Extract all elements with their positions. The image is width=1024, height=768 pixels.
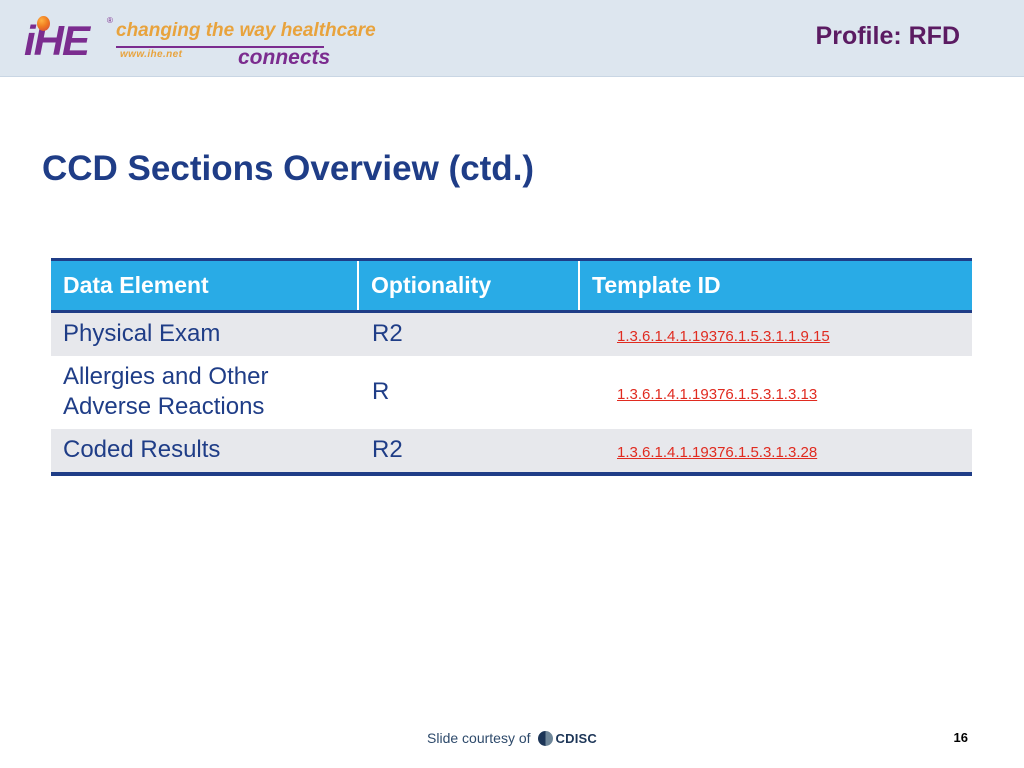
cell-data-element: Coded Results	[51, 429, 358, 474]
ccd-sections-table: Data Element Optionality Template ID Phy…	[51, 258, 972, 476]
credit-row: Slide courtesy of CDISC	[427, 730, 597, 746]
cell-data-element: Physical Exam	[51, 312, 358, 356]
cdisc-circle-icon	[538, 731, 553, 746]
table-header: Data Element Optionality Template ID	[51, 260, 972, 312]
ihe-logomark-icon: iHE	[24, 16, 114, 60]
ihe-logo: iHE ® changing the way healthcare www.ih…	[24, 8, 324, 70]
cell-optionality: R2	[358, 312, 579, 356]
cell-template-id: 1.3.6.1.4.1.19376.1.5.3.1.3.28	[579, 429, 972, 474]
page-title: CCD Sections Overview (ctd.)	[42, 149, 534, 189]
table-header-row: Data Element Optionality Template ID	[51, 260, 972, 312]
credit-text: Slide courtesy of	[427, 730, 531, 746]
cell-optionality: R	[358, 356, 579, 429]
ihe-orange-dot-icon	[37, 16, 50, 31]
registered-trademark-icon: ®	[107, 16, 113, 25]
table-row: Allergies and Other Adverse Reactions R …	[51, 356, 972, 429]
cdisc-wordmark: CDISC	[556, 731, 597, 746]
template-id-link[interactable]: 1.3.6.1.4.1.19376.1.5.3.1.1.9.15	[617, 328, 830, 345]
template-id-link[interactable]: 1.3.6.1.4.1.19376.1.5.3.1.3.28	[617, 444, 817, 461]
column-header-data-element: Data Element	[51, 260, 358, 312]
profile-label: Profile: RFD	[816, 22, 960, 51]
table-body: Physical Exam R2 1.3.6.1.4.1.19376.1.5.3…	[51, 312, 972, 474]
column-header-optionality: Optionality	[358, 260, 579, 312]
cell-optionality: R2	[358, 429, 579, 474]
page-number: 16	[954, 730, 968, 745]
cell-data-element: Allergies and Other Adverse Reactions	[51, 356, 358, 429]
table-row: Coded Results R2 1.3.6.1.4.1.19376.1.5.3…	[51, 429, 972, 474]
cdisc-logo: CDISC	[538, 731, 597, 746]
ihe-tagline-line1: changing the way healthcare	[116, 20, 376, 42]
ihe-wordmark: iHE	[24, 22, 88, 60]
cell-template-id: 1.3.6.1.4.1.19376.1.5.3.1.1.9.15	[579, 312, 972, 356]
slide-header-band: iHE ® changing the way healthcare www.ih…	[0, 0, 1024, 77]
slide-credit: Slide courtesy of CDISC	[0, 730, 1024, 746]
ihe-website-url: www.ihe.net	[120, 49, 182, 60]
template-id-link[interactable]: 1.3.6.1.4.1.19376.1.5.3.1.3.13	[617, 386, 817, 403]
column-header-template-id: Template ID	[579, 260, 972, 312]
table-row: Physical Exam R2 1.3.6.1.4.1.19376.1.5.3…	[51, 312, 972, 356]
cell-template-id: 1.3.6.1.4.1.19376.1.5.3.1.3.13	[579, 356, 972, 429]
ihe-tagline-line2: connects	[238, 46, 330, 70]
